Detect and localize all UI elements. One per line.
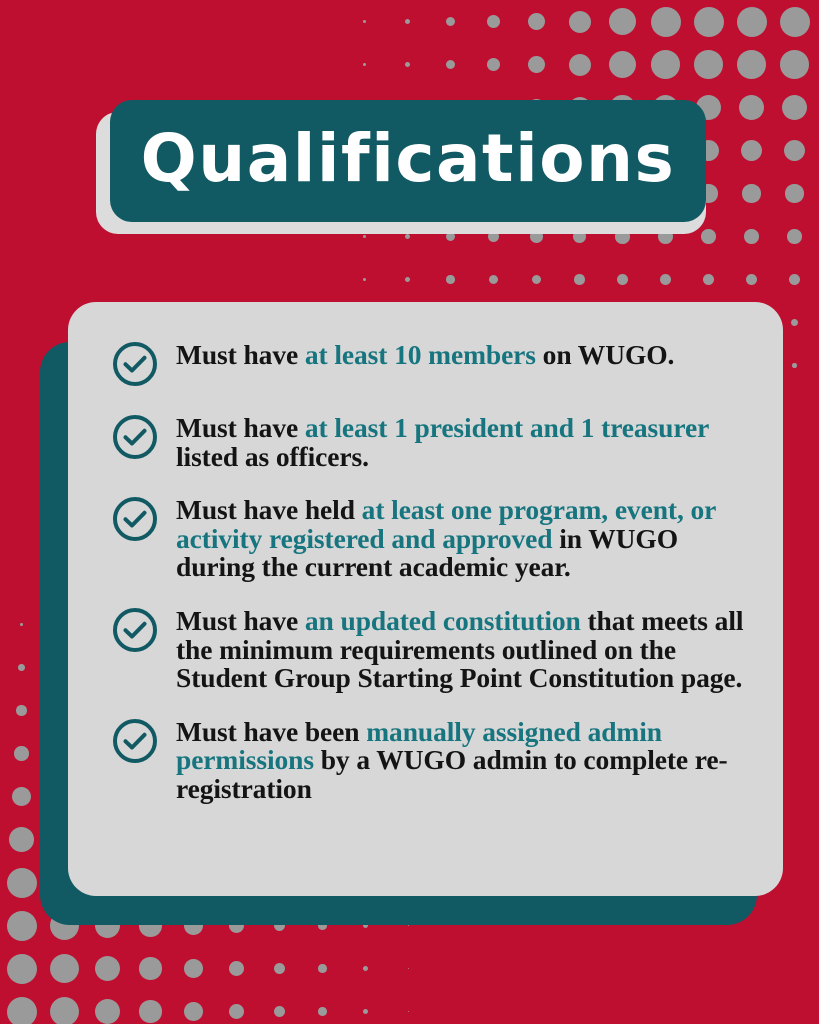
halftone-dot	[784, 140, 806, 162]
halftone-dot	[694, 50, 723, 79]
halftone-dot	[787, 229, 802, 244]
qualification-text: Must have at least 1 president and 1 tre…	[176, 411, 753, 471]
halftone-dot	[184, 959, 203, 978]
halftone-dot	[651, 50, 680, 79]
halftone-dot	[569, 54, 591, 76]
list-item: Must have been manually assigned admin p…	[110, 715, 753, 804]
halftone-dot	[737, 7, 767, 37]
title-banner: Qualifications	[110, 100, 706, 222]
halftone-dot	[405, 277, 411, 283]
halftone-dot	[487, 15, 500, 28]
halftone-dot	[489, 275, 498, 284]
highlighted-phrase: at least 10 members	[305, 339, 536, 370]
check-circle-icon	[110, 412, 160, 462]
plain-phrase: Must have been	[176, 716, 366, 747]
halftone-dot	[16, 705, 26, 715]
halftone-dot	[780, 7, 810, 37]
halftone-dot	[744, 229, 759, 244]
halftone-dot	[363, 1009, 368, 1014]
halftone-dot	[184, 1002, 203, 1021]
halftone-dot	[532, 275, 542, 285]
halftone-dot	[363, 278, 366, 281]
qualification-list: Must have at least 10 members on WUGO.Mu…	[110, 338, 753, 804]
halftone-dot	[446, 60, 455, 69]
halftone-dot	[12, 787, 31, 806]
halftone-dot	[446, 17, 455, 26]
list-item: Must have an updated constitution that m…	[110, 604, 753, 693]
halftone-dot	[405, 62, 411, 68]
plain-phrase: Must have	[176, 339, 305, 370]
halftone-dot	[95, 956, 121, 982]
halftone-dot	[651, 7, 681, 37]
halftone-dot	[792, 363, 796, 367]
plain-phrase: on WUGO.	[536, 339, 674, 370]
highlighted-phrase: an updated constitution	[305, 605, 581, 636]
halftone-dot	[408, 968, 410, 970]
halftone-dot	[318, 1007, 327, 1016]
halftone-dot	[660, 274, 671, 285]
halftone-dot	[7, 997, 37, 1024]
plain-phrase: Must have	[176, 412, 305, 443]
plain-phrase: Must have held	[176, 494, 362, 525]
check-circle-icon	[110, 494, 160, 544]
halftone-dot	[50, 997, 79, 1024]
halftone-dot	[574, 274, 584, 284]
list-item: Must have held at least one program, eve…	[110, 493, 753, 582]
qualification-text: Must have at least 10 members on WUGO.	[176, 338, 674, 370]
halftone-dot	[785, 184, 803, 202]
halftone-dot	[703, 274, 714, 285]
halftone-dot	[408, 1011, 410, 1013]
halftone-dot	[782, 95, 807, 120]
check-circle-icon	[110, 605, 160, 655]
qualifications-poster: Qualifications Must have at least 10 mem…	[0, 0, 819, 1024]
halftone-dot	[363, 235, 366, 238]
list-item: Must have at least 1 president and 1 tre…	[110, 411, 753, 471]
page-title: Qualifications	[141, 126, 676, 192]
halftone-dot	[701, 229, 716, 244]
plain-phrase: listed as officers.	[176, 441, 369, 472]
halftone-dot	[95, 999, 121, 1024]
halftone-dot	[139, 1000, 161, 1022]
halftone-dot	[7, 911, 37, 941]
halftone-dot	[789, 274, 800, 285]
halftone-dot	[405, 234, 411, 240]
highlighted-phrase: at least 1 president and 1 treasurer	[305, 412, 709, 443]
halftone-dot	[528, 56, 545, 73]
halftone-dot	[780, 50, 809, 79]
halftone-dot	[742, 184, 760, 202]
check-circle-icon	[110, 339, 160, 389]
halftone-dot	[18, 664, 25, 671]
halftone-dot	[363, 966, 368, 971]
halftone-dot	[363, 20, 366, 23]
halftone-dot	[791, 319, 799, 327]
halftone-dot	[528, 13, 545, 30]
qualification-text: Must have been manually assigned admin p…	[176, 715, 753, 804]
halftone-dot	[405, 19, 411, 25]
check-circle-icon	[110, 716, 160, 766]
halftone-dot	[446, 275, 454, 283]
halftone-dot	[746, 274, 757, 285]
halftone-dot	[7, 954, 37, 984]
plain-phrase: Must have	[176, 605, 305, 636]
content-card: Must have at least 10 members on WUGO.Mu…	[68, 302, 783, 896]
halftone-dot	[487, 58, 500, 71]
qualification-text: Must have held at least one program, eve…	[176, 493, 753, 582]
halftone-dot	[139, 957, 161, 979]
halftone-dot	[20, 623, 23, 626]
halftone-dot	[274, 1006, 286, 1018]
halftone-dot	[569, 11, 591, 33]
halftone-dot	[739, 95, 764, 120]
halftone-dot	[274, 963, 286, 975]
list-item: Must have at least 10 members on WUGO.	[110, 338, 753, 389]
halftone-dot	[14, 746, 29, 761]
halftone-dot	[50, 954, 79, 983]
halftone-dot	[741, 140, 763, 162]
halftone-dot	[694, 7, 724, 37]
halftone-dot	[229, 961, 244, 976]
halftone-dot	[7, 868, 37, 898]
halftone-dot	[617, 274, 628, 285]
halftone-dot	[9, 827, 34, 852]
halftone-dot	[363, 63, 366, 66]
halftone-dot	[737, 50, 766, 79]
halftone-dot	[609, 8, 636, 35]
halftone-dot	[318, 964, 327, 973]
halftone-dot	[609, 51, 636, 78]
qualification-text: Must have an updated constitution that m…	[176, 604, 753, 693]
halftone-dot	[229, 1004, 244, 1019]
